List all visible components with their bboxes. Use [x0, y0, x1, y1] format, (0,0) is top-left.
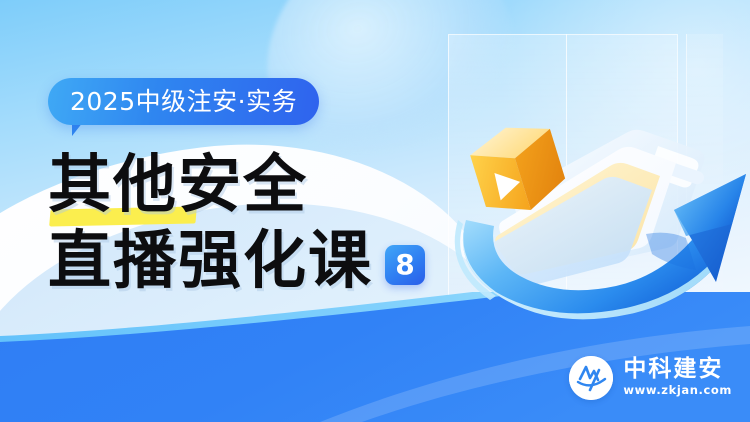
headline-block: 其他安全 直播强化课 8	[48, 152, 425, 293]
course-category-badge[interactable]: 2025中级注安·实务	[48, 78, 319, 125]
course-promo-banner: 2025中级注安·实务 其他安全 直播强化课 8 中科建安 www.zkjan.…	[0, 0, 750, 422]
headline-line-2: 直播强化课 8	[48, 228, 425, 294]
headline-line-1-text: 其他安全	[48, 147, 308, 221]
brand-text: 中科建安 www.zkjan.com	[623, 357, 732, 400]
headline-line-2-text: 直播强化课	[48, 228, 373, 294]
brand-name: 中科建安	[623, 357, 732, 382]
brand-logo[interactable]: 中科建安 www.zkjan.com	[569, 356, 732, 400]
headline-line-1: 其他安全	[48, 152, 425, 218]
episode-number-label: 8	[395, 251, 414, 279]
course-category-label: 2025中级注安·实务	[70, 89, 297, 114]
brand-url: www.zkjan.com	[623, 382, 732, 399]
brand-mark-icon	[569, 356, 613, 400]
course-illustration	[430, 24, 750, 340]
episode-number-badge: 8	[385, 245, 425, 285]
